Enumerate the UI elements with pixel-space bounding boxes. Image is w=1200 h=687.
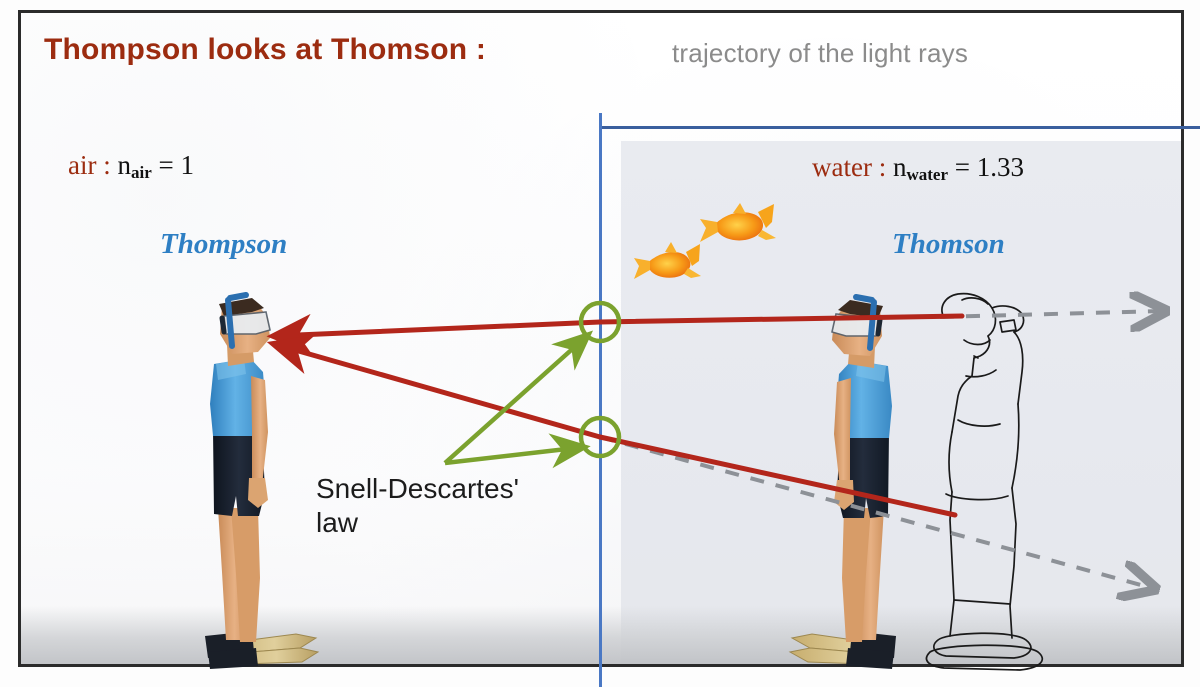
air-water-interface-line bbox=[599, 113, 602, 687]
air-equals: = bbox=[152, 150, 181, 180]
air-n-value: 1 bbox=[181, 150, 195, 180]
water-n-subscript: water bbox=[906, 165, 948, 184]
snell-descartes-law-label: Snell-Descartes' law bbox=[316, 472, 519, 540]
air-separator: : bbox=[96, 150, 117, 180]
page-title-right: trajectory of the light rays bbox=[672, 38, 968, 69]
water-n-symbol: n bbox=[893, 152, 907, 182]
water-region bbox=[621, 141, 1181, 664]
air-n-subscript: air bbox=[131, 163, 152, 182]
water-medium-name: water bbox=[812, 152, 872, 182]
water-separator: : bbox=[872, 152, 893, 182]
observer-name-label: Thompson bbox=[160, 228, 287, 261]
page-title-left: Thompson looks at Thomson : bbox=[44, 33, 486, 67]
air-medium-label: air : nair = 1 bbox=[68, 150, 194, 183]
air-n-symbol: n bbox=[118, 150, 132, 180]
water-equals: = bbox=[948, 152, 977, 182]
water-n-value: 1.33 bbox=[977, 152, 1024, 182]
air-medium-name: air bbox=[68, 150, 96, 180]
observed-name-label: Thomson bbox=[892, 228, 1005, 261]
figure-canvas: Thompson looks at Thomson : trajectory o… bbox=[0, 0, 1200, 687]
water-medium-label: water : nwater = 1.33 bbox=[812, 152, 1024, 185]
water-surface-line bbox=[600, 126, 1200, 129]
